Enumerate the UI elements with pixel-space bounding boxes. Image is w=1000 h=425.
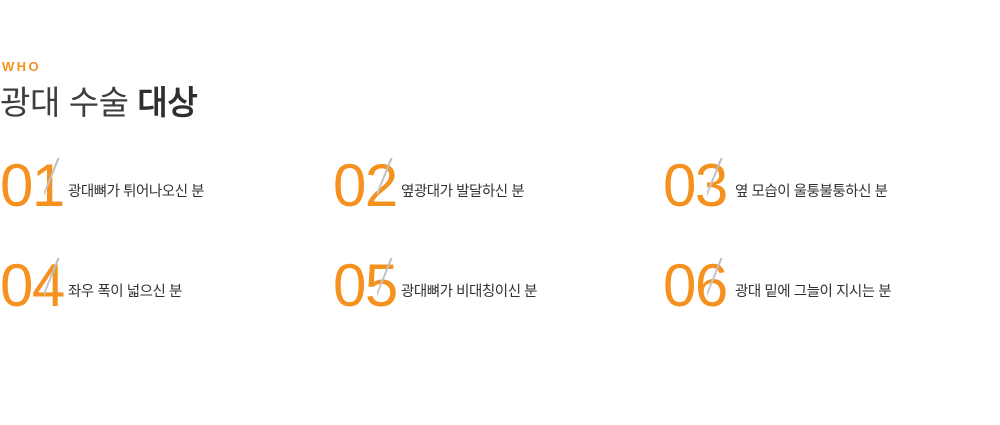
- item-number-block: 01: [0, 150, 72, 250]
- list-item: 04 좌우 폭이 넓으신 분: [0, 250, 330, 350]
- list-item: 06 광대 밑에 그늘이 지시는 분: [663, 250, 1000, 350]
- item-number-block: 04: [0, 250, 72, 350]
- page-title: 광대 수술 대상: [0, 84, 560, 123]
- item-number: 04: [0, 256, 64, 316]
- item-description: 좌우 폭이 넓으신 분: [68, 282, 182, 303]
- page-title-bold-part: 대상: [137, 84, 197, 121]
- item-number-block: 06: [663, 250, 735, 350]
- who-target-section: WHO 광대 수술 대상 01 광대뼈가 튀어나오신 분 02 옆광대가 발달하…: [0, 0, 1000, 425]
- item-description: 옆 모습이 울퉁불퉁하신 분: [735, 182, 888, 203]
- target-items-row-1: 01 광대뼈가 튀어나오신 분 02 옆광대가 발달하신 분 03 옆 모습이 …: [0, 150, 1000, 250]
- page-title-light-part: 광대 수술: [0, 84, 129, 121]
- target-items-grid: 01 광대뼈가 튀어나오신 분 02 옆광대가 발달하신 분 03 옆 모습이 …: [0, 150, 1000, 350]
- item-number: 06: [663, 256, 727, 316]
- item-number: 01: [0, 156, 64, 216]
- list-item: 05 광대뼈가 비대칭이신 분: [333, 250, 663, 350]
- target-items-row-2: 04 좌우 폭이 넓으신 분 05 광대뼈가 비대칭이신 분 06 광대 밑에 …: [0, 250, 1000, 350]
- item-description: 광대 밑에 그늘이 지시는 분: [735, 282, 891, 303]
- item-number: 02: [333, 156, 397, 216]
- item-number: 03: [663, 156, 727, 216]
- item-number-block: 05: [333, 250, 405, 350]
- item-number-block: 02: [333, 150, 405, 250]
- section-eyebrow-label: WHO: [2, 60, 560, 73]
- item-number: 05: [333, 256, 397, 316]
- section-header: WHO 광대 수술 대상: [0, 60, 560, 123]
- list-item: 03 옆 모습이 울퉁불퉁하신 분: [663, 150, 1000, 250]
- list-item: 02 옆광대가 발달하신 분: [333, 150, 663, 250]
- item-description: 광대뼈가 튀어나오신 분: [68, 182, 204, 203]
- item-number-block: 03: [663, 150, 735, 250]
- item-description: 옆광대가 발달하신 분: [401, 182, 524, 203]
- item-description: 광대뼈가 비대칭이신 분: [401, 282, 537, 303]
- list-item: 01 광대뼈가 튀어나오신 분: [0, 150, 330, 250]
